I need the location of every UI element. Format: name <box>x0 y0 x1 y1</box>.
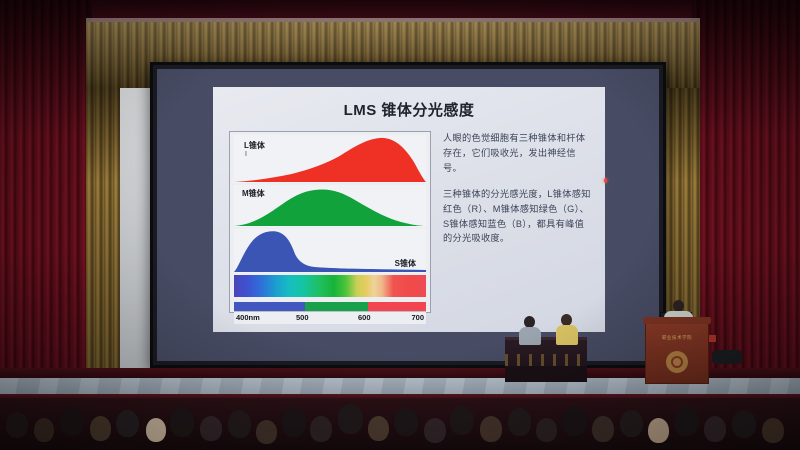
audience-head <box>228 410 251 438</box>
audience-head <box>310 416 332 442</box>
audience-head <box>674 406 699 436</box>
stage-chair <box>712 350 742 364</box>
audience-head <box>480 416 502 442</box>
audience-head <box>424 418 446 443</box>
lectern-nameplate: 职业技术学院 <box>650 333 704 342</box>
axis-tick-500: 500 <box>296 313 309 322</box>
audience-head <box>394 408 418 436</box>
panelist-right <box>556 314 578 345</box>
audience-area <box>0 398 800 450</box>
audience-head <box>282 408 306 437</box>
table-skirt-trim <box>505 354 587 366</box>
rgb-segment-bar <box>234 302 426 311</box>
rgb-segment-red <box>368 302 426 311</box>
rgb-segment-blue <box>234 302 305 311</box>
audience-head <box>592 416 614 442</box>
table-skirt <box>505 366 587 382</box>
slide-body-text: 人眼的色觉细胞有三种锥体和杆体存在，它们吸收光，发出神经信号。 三种锥体的分光感… <box>443 131 593 257</box>
audience-head <box>704 416 726 442</box>
l-cone-label: L锥体 <box>244 140 265 151</box>
panel-table <box>505 340 587 382</box>
m-cone-label: M锥体 <box>242 188 265 199</box>
audience-head <box>648 418 669 443</box>
audience-head <box>6 412 28 438</box>
audience-head <box>116 410 139 437</box>
wavelength-axis: 400nm 500 600 700 <box>234 311 426 324</box>
audience-head <box>762 418 784 443</box>
audience-head <box>60 408 84 436</box>
audience-head <box>256 420 277 444</box>
lectern-emblem-icon <box>666 351 688 373</box>
auditorium-photo: LMS 锥体分光感度 L锥体 I M锥体 <box>0 0 800 450</box>
projection-screen: LMS 锥体分光感度 L锥体 I M锥体 <box>150 62 666 368</box>
audience-head <box>90 416 111 441</box>
rgb-segment-green <box>305 302 368 311</box>
audience-head <box>620 410 643 437</box>
slide-paragraph-2: 三种锥体的分光感光度，L锥体感知红色（R）、M锥体感知绿色（G）、S锥体感知蓝色… <box>443 187 593 247</box>
audience-head <box>338 404 363 434</box>
audience-head <box>170 408 194 437</box>
audience-head <box>34 418 54 442</box>
visible-spectrum-bar <box>234 275 426 297</box>
panelist-left-body <box>519 327 541 345</box>
text-caret-icon: I <box>245 151 247 158</box>
audience-head <box>146 418 166 442</box>
axis-tick-700: 700 <box>411 313 424 322</box>
lms-sensitivity-chart: L锥体 I M锥体 S锥体 <box>229 131 431 313</box>
s-cone-label: S锥体 <box>395 258 416 269</box>
laser-pointer-dot <box>604 178 607 183</box>
panelist-right-body <box>556 325 578 345</box>
lectern-top <box>643 317 711 324</box>
lectern: 职业技术学院 <box>645 320 709 384</box>
audience-head <box>508 408 531 436</box>
audience-head <box>562 406 587 436</box>
axis-tick-600: 600 <box>358 313 371 322</box>
axis-tick-400: 400nm <box>236 313 260 322</box>
presentation-slide: LMS 锥体分光感度 L锥体 I M锥体 <box>213 87 605 332</box>
audience-head <box>536 418 557 442</box>
audience-head <box>200 416 222 441</box>
slide-paragraph-1: 人眼的色觉细胞有三种锥体和杆体存在，它们吸收光，发出神经信号。 <box>443 131 593 176</box>
slide-title: LMS 锥体分光感度 <box>213 99 605 120</box>
panelist-left <box>519 316 541 345</box>
audience-head <box>368 416 389 441</box>
audience-head <box>450 406 474 435</box>
audience-head <box>732 410 756 438</box>
